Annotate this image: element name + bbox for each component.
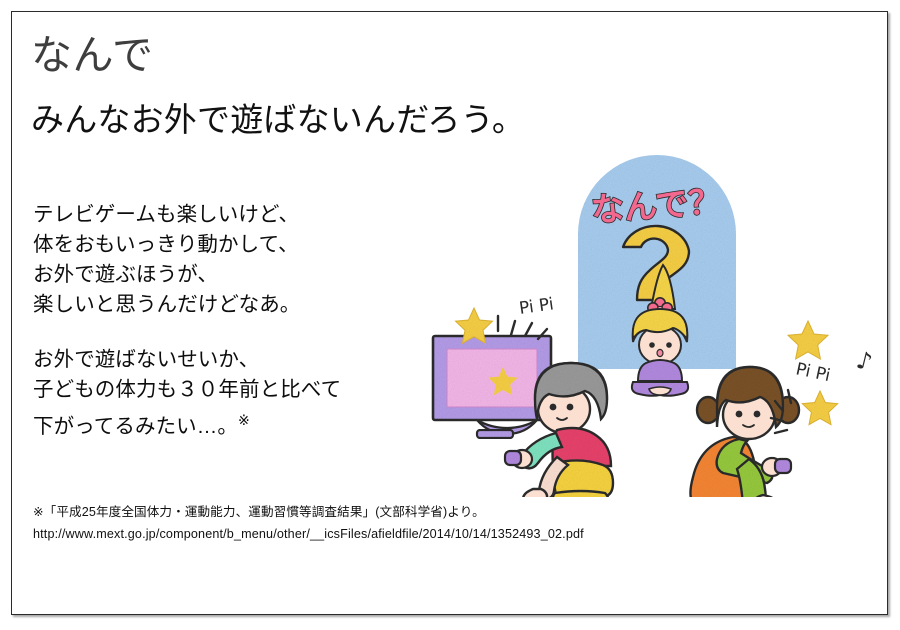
sfx-right-text: Pi Pi xyxy=(794,359,832,386)
sfx-left-text: Pi Pi xyxy=(518,294,555,319)
music-note-icon: ♪ xyxy=(854,346,876,377)
illustration: なんで？ xyxy=(427,137,887,497)
reference-mark: ※ xyxy=(238,412,250,428)
footnote: ※「平成25年度全国体力・運動能力、運動習慣等調査結果」(文部科学省)より。 h… xyxy=(33,501,584,545)
footnote-source-text: ※「平成25年度全国体力・運動能力、運動習慣等調査結果」(文部科学省)より。 xyxy=(33,501,584,523)
footnote-url-link[interactable]: http://www.mext.go.jp/component/b_menu/o… xyxy=(33,523,584,545)
body-paragraph-2: お外で遊ばないせいか、 子どもの体力も３０年前と比べて 下がってるみたい…。※ xyxy=(33,345,341,442)
body-paragraph-1: テレビゲームも楽しいけど、 体をおもいっきり動かして、 お外で遊ぶほうが、 楽し… xyxy=(33,200,300,320)
page-title: なんで xyxy=(31,33,153,77)
page-subtitle: みんなお外で遊ばないんだろう。 xyxy=(31,102,525,138)
television-icon xyxy=(433,336,551,438)
poster-page: なんで みんなお外で遊ばないんだろう。 テレビゲームも楽しいけど、 体をおもいっ… xyxy=(11,11,888,615)
body-paragraph-2-text: お外で遊ばないせいか、 子どもの体力も３０年前と比べて 下がってるみたい…。 xyxy=(33,348,341,438)
